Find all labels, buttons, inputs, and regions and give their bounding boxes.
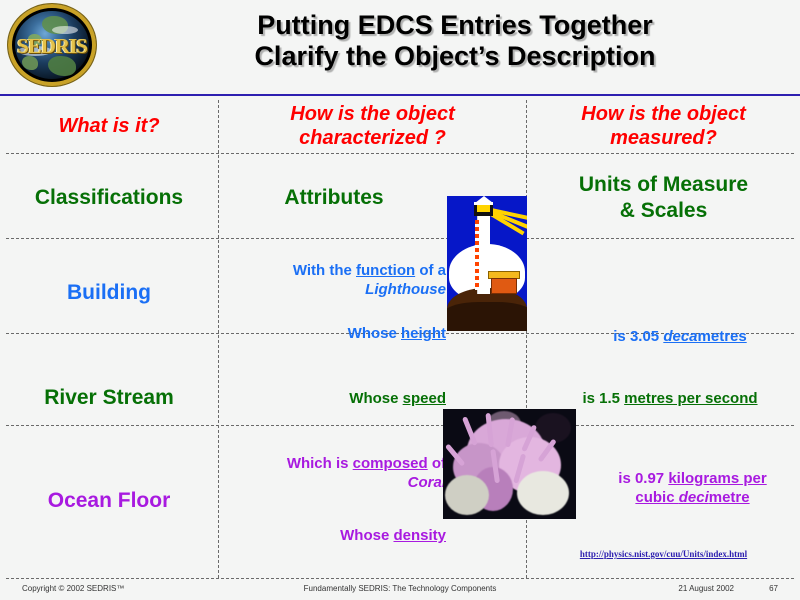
footer-page-number: 67 (769, 584, 778, 593)
row-concepts-what: Classifications (0, 185, 218, 211)
grid-hline-4 (6, 425, 794, 426)
logo-wordmark: SEDRIS (8, 34, 96, 59)
link-composed: composed (353, 455, 428, 472)
row-building-char-line-3: Whose height (240, 325, 446, 344)
row-ocean-char-line-2: Coral (240, 474, 446, 493)
column-header-2-line-1: How is the object (290, 102, 454, 126)
row-river-characterized: Whose speed (240, 390, 446, 409)
link-cubic-decimetre: cubic decimetre (635, 489, 749, 506)
link-metres-per-second: metres per second (624, 390, 757, 407)
link-kilograms-per: kilograms per (668, 470, 766, 487)
link-height: height (401, 325, 446, 342)
row-ocean-what: Ocean Floor (0, 488, 218, 514)
grid-hline-2 (6, 238, 794, 239)
column-header-measured: How is the object measured? (527, 100, 800, 152)
row-concepts-characterized: Attributes (219, 185, 449, 211)
column-header-1-text: What is it? (58, 114, 159, 138)
footer-date: 21 August 2002 (678, 584, 734, 593)
link-density: density (393, 527, 446, 544)
footer-divider (6, 578, 794, 579)
coral-image (443, 409, 576, 519)
row-concepts-measured: Units of Measure & Scales (527, 172, 800, 225)
row-ocean-measured: is 0.97 kilograms per cubic decimetre (585, 470, 800, 508)
row-building-characterized: With the function of a Lighthouse (240, 262, 446, 300)
nist-units-link[interactable]: http://physics.nist.gov/cuu/Units/index.… (527, 549, 800, 559)
link-decametres: decametres (663, 328, 746, 345)
row-river-what: River Stream (0, 385, 218, 411)
title-line-1: Putting EDCS Entries Together (120, 10, 790, 41)
row-concepts-measured-line-1: Units of Measure (527, 172, 800, 198)
column-header-characterized: How is the object characterized ? (219, 100, 526, 152)
row-concepts-measured-line-2: & Scales (527, 198, 800, 224)
lighthouse-image (447, 196, 527, 331)
sedris-globe-logo-icon: SEDRIS (8, 4, 96, 86)
row-building-char-line-2: Lighthouse (240, 281, 446, 300)
column-header-2-line-2: characterized ? (290, 126, 454, 150)
link-speed: speed (403, 390, 446, 407)
row-building-what: Building (0, 280, 218, 306)
link-function: function (356, 262, 415, 279)
row-building-measured: is 3.05 decametres (560, 328, 800, 347)
row-ocean-characterized: Which is composed of Coral (240, 455, 446, 493)
row-building-char-line-1: With the function of a (240, 262, 446, 281)
grid-vline-1 (218, 100, 219, 578)
column-header-3-line-1: How is the object (581, 102, 745, 126)
slide-canvas: SEDRIS Putting EDCS Entries Together Cla… (0, 0, 800, 600)
row-ocean-char-line-3: Whose density (240, 527, 446, 546)
column-header-3-line-2: measured? (581, 126, 745, 150)
row-ocean-measured-line-2: cubic decimetre (585, 489, 800, 508)
grid-hline-1 (6, 153, 794, 154)
slide-title: Putting EDCS Entries Together Clarify th… (120, 10, 790, 72)
title-underline-rule (0, 94, 800, 96)
row-ocean-char-line-1: Which is composed of (240, 455, 446, 474)
row-river-measured: is 1.5 metres per second (540, 390, 800, 409)
row-ocean-measured-line-1: is 0.97 kilograms per (585, 470, 800, 489)
title-line-2: Clarify the Object’s Description (120, 41, 790, 72)
column-header-what-is-it: What is it? (0, 100, 218, 152)
